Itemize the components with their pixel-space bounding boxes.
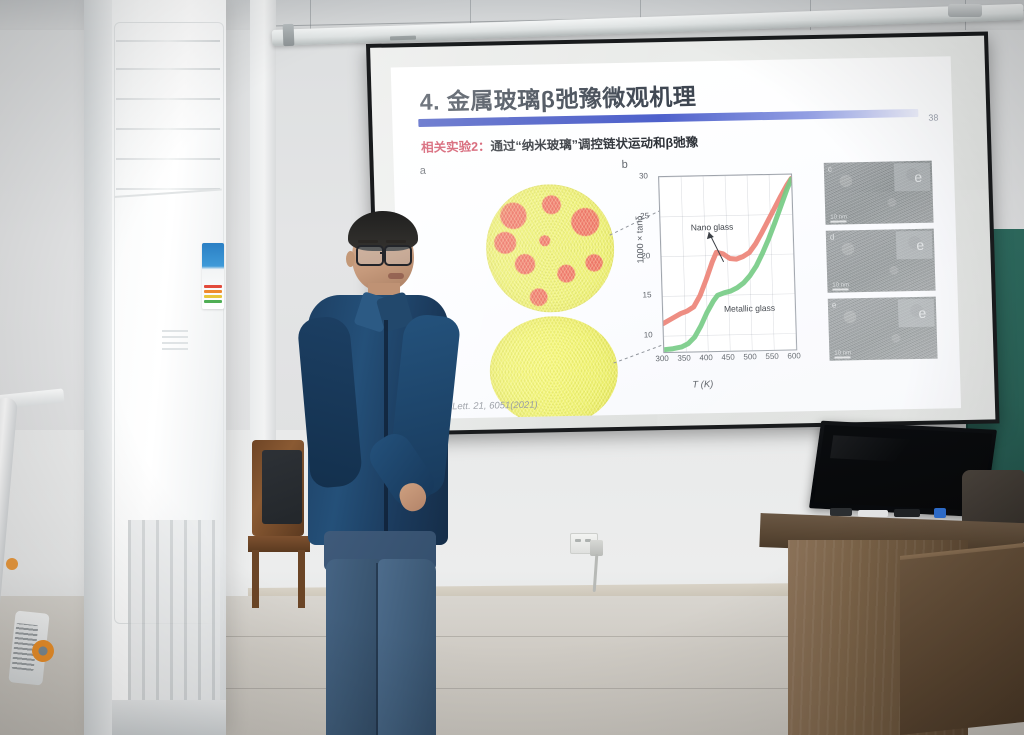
presenter-ear — [346, 251, 355, 267]
chart-y-tick: 10 — [644, 330, 653, 339]
micro-tag-c: c — [828, 165, 832, 174]
panel-label-b: b — [622, 159, 628, 171]
wall-column — [250, 0, 276, 470]
chart-svg — [659, 174, 796, 352]
presentation-slide: 4. 金属玻璃β弛豫微观机理 38 相关实验2：通过“纳米玻璃”调控链状运动和β… — [391, 56, 961, 419]
ac-intake-vent — [128, 520, 220, 720]
slide-title: 4. 金属玻璃β弛豫微观机理 — [419, 77, 697, 117]
chart-annotations: Nano glassMetallic glass — [630, 169, 805, 173]
presenter-leg-left-jeans — [326, 559, 382, 735]
subtitle-text: 通过“纳米玻璃”调控链状运动和β弛豫 — [490, 135, 698, 153]
screen-case-bracket-right — [948, 4, 982, 17]
chart-y-tick: 30 — [639, 171, 648, 180]
micro-scalebar-d — [832, 288, 848, 290]
micro-inset-c — [894, 163, 931, 192]
chair-pad — [262, 450, 302, 524]
eyeglasses-left-lens — [356, 245, 384, 266]
floor-air-conditioner — [84, 0, 226, 735]
chart-x-tick: 600 — [787, 351, 801, 360]
micro-inset-glyph-d: e — [916, 237, 924, 253]
micro-scalebar-c — [830, 220, 846, 222]
tan-delta-chart: 1000 × tanδ T (K) 1015202530 30035040045… — [630, 169, 812, 397]
micro-scalebar-e — [834, 356, 850, 358]
micro-inset-glyph-e: e — [918, 305, 926, 321]
jeans-seam — [376, 563, 378, 735]
chart-y-tick: 20 — [641, 251, 650, 260]
chart-x-axis-label: T (K) — [692, 379, 713, 390]
chair-backrest — [252, 440, 304, 536]
chart-y-ticks: 1015202530 — [630, 169, 805, 173]
micro-panel-d: d e 10 nm — [826, 229, 936, 293]
micro-tag-d: d — [830, 233, 835, 242]
monitor-reflection — [830, 435, 934, 464]
ac-spec-text — [162, 330, 190, 354]
micro-panel-e: e e 10 nm — [828, 297, 938, 361]
chart-annotation-1: Nano glass — [691, 221, 734, 232]
chart-annotation-2: Metallic glass — [724, 302, 775, 313]
slide-number: 38 — [928, 113, 938, 123]
presenter-mouth — [388, 273, 404, 279]
slide-subtitle: 相关实验2：通过“纳米玻璃”调控链状运动和β弛豫 — [421, 131, 699, 156]
chart-y-tick: 15 — [642, 291, 651, 300]
chart-x-tick: 300 — [655, 354, 669, 363]
nano-glass-particle-diagram — [484, 183, 616, 314]
chart-x-tick: 500 — [743, 352, 757, 361]
chart-x-tick: 400 — [699, 353, 713, 362]
projection-screen: 4. 金属玻璃β弛豫微观机理 38 相关实验2：通过“纳米玻璃”调控链状运动和β… — [366, 32, 1000, 436]
screen-case-bracket-left — [283, 24, 295, 46]
panel-label-a: a — [420, 165, 426, 177]
side-desk — [900, 547, 1024, 735]
presenter-eyebrow-left — [358, 240, 378, 243]
mop-accent-dot — [6, 558, 18, 570]
chart-x-tick: 450 — [721, 353, 735, 362]
presenter — [300, 215, 460, 735]
chart-y-tick: 25 — [640, 211, 649, 220]
micro-tag-e: e — [832, 301, 837, 310]
classroom-presentation-photo: 4. 金属玻璃β弛豫微观机理 38 相关实验2：通过“纳米玻璃”调控链状运动和β… — [0, 0, 1024, 735]
chart-x-ticks: 300350400450500550600 — [630, 169, 805, 173]
shirt-placket — [384, 320, 388, 535]
micro-panel-c: c e 10 nm — [824, 161, 934, 225]
ac-side-panel — [84, 0, 112, 735]
subtitle-highlight: 相关实验2： — [421, 140, 491, 155]
eyeglasses-bridge — [380, 252, 385, 254]
chart-plot-area — [658, 173, 797, 353]
chart-x-tick: 550 — [765, 352, 779, 361]
screen-surface: 4. 金属玻璃β弛豫微观机理 38 相关实验2：通过“纳米玻璃”调控链状运动和β… — [370, 36, 995, 432]
presenter-eyebrow-right — [386, 240, 406, 243]
ac-energy-label — [202, 243, 224, 309]
micro-inset-glyph-c: e — [914, 169, 922, 185]
eyeglasses-right-lens — [384, 245, 412, 266]
presenter-leg-right-jeans — [378, 559, 436, 735]
chart-x-tick: 350 — [677, 354, 691, 363]
ac-base — [112, 700, 226, 735]
micro-inset-d — [896, 231, 933, 260]
micro-inset-e — [898, 299, 935, 328]
